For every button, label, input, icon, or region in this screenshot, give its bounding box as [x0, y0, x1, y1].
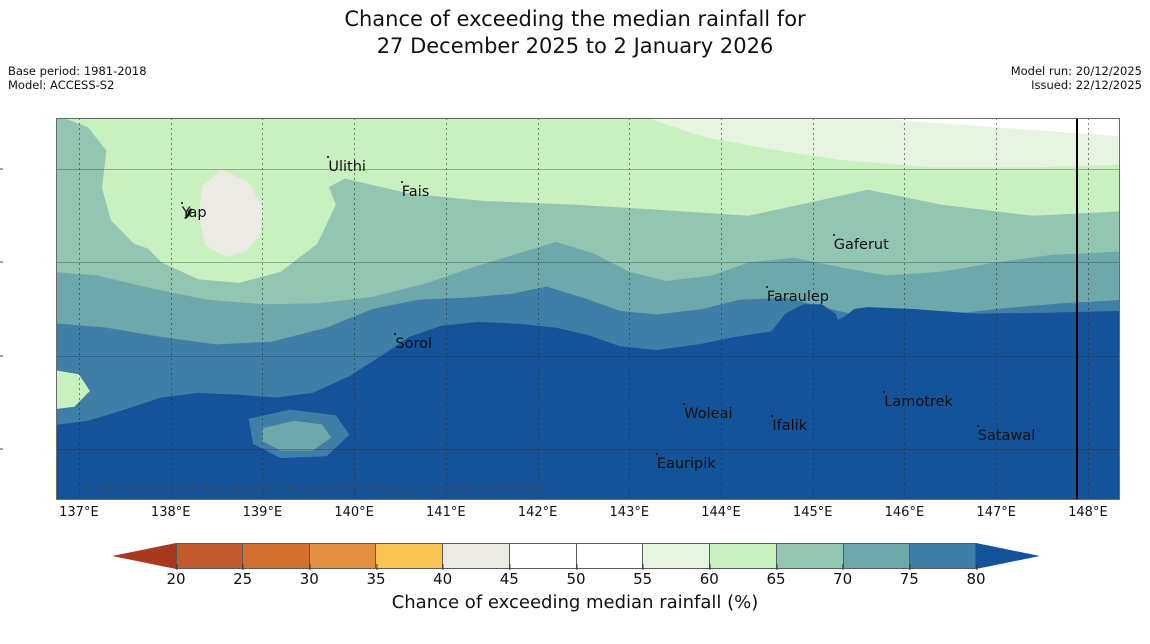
latitude-tick-mark: [0, 355, 3, 356]
colorbar-tick-mark: [643, 564, 644, 570]
rainfall-forecast-map-page: Chance of exceeding the median rainfall …: [0, 0, 1150, 644]
colorbar-tick-mark: [443, 564, 444, 570]
contour-bands: [56, 118, 1120, 500]
longitude-tick-label: 148°E: [1068, 505, 1108, 520]
longitude-tick-label: 141°E: [426, 505, 466, 520]
place-marker-dot: [766, 286, 768, 288]
model-text: Model: ACCESS-S2: [8, 78, 147, 92]
colorbar-segment: [176, 543, 243, 569]
longitude-tick-label: 144°E: [701, 505, 741, 520]
copyright-text: © Commonwealth of Australia 2025, Bureau…: [83, 482, 546, 495]
place-label-woleai: Woleai: [684, 407, 732, 421]
map-panel: YapUlithiFaisSorolGaferutFaraulepWoleaiI…: [56, 118, 1120, 500]
colorbar-high-extend-cap: [976, 543, 1040, 569]
graticule-meridian: [721, 118, 722, 500]
longitude-tick-label: 140°E: [334, 505, 374, 520]
latitude-tick-mark: [0, 262, 3, 263]
longitude-tick-label: 147°E: [976, 505, 1016, 520]
colorbar-tick-label: 75: [900, 570, 919, 588]
colorbar-segment: [910, 543, 976, 569]
boundary-line: [1076, 118, 1078, 500]
colorbar-tick-mark: [576, 564, 577, 570]
colorbar-tick-label: 25: [233, 570, 252, 588]
page-title: Chance of exceeding the median rainfall …: [0, 6, 1150, 60]
colorbar-tick-label: 80: [966, 570, 985, 588]
colorbar-tick-mark: [976, 564, 977, 570]
colorbar-segment: [243, 543, 310, 569]
colorbar-tick-label: 30: [300, 570, 319, 588]
longitude-tick-label: 146°E: [885, 505, 925, 520]
colorbar-tick-mark: [376, 564, 377, 570]
colorbar-tick-label: 50: [566, 570, 585, 588]
place-name-text: Woleai: [684, 406, 732, 422]
place-name-text: Sorol: [395, 336, 432, 352]
graticule-parallel: [56, 356, 1120, 357]
metadata-right: Model run: 20/12/2025 Issued: 22/12/2025: [1011, 64, 1142, 92]
place-label-faraulep: Faraulep: [767, 290, 829, 304]
place-label-fais: Fais: [402, 185, 429, 199]
colorbar-tick-label: 65: [766, 570, 785, 588]
colorbar-segment: [777, 543, 844, 569]
graticule-meridian: [813, 118, 814, 500]
latitude-tick-mark: [0, 448, 3, 449]
place-label-yap: Yap: [182, 206, 207, 220]
colorbar-tick-label: 20: [166, 570, 185, 588]
place-marker-dot: [401, 181, 403, 183]
longitude-tick-label: 145°E: [793, 505, 833, 520]
graticule-meridian: [446, 118, 447, 500]
place-marker-dot: [977, 425, 979, 427]
place-marker-dot: [656, 453, 658, 455]
place-name-text: Faraulep: [767, 289, 829, 305]
colorbar-tick-mark: [909, 564, 910, 570]
colorbar-tick-label: 70: [833, 570, 852, 588]
colorbar-tick-label: 60: [700, 570, 719, 588]
place-name-text: Fais: [402, 184, 429, 200]
graticule-parallel: [56, 169, 1120, 170]
island-marker-icon: [182, 206, 197, 221]
place-marker-dot: [181, 202, 183, 204]
title-line-1: Chance of exceeding the median rainfall …: [344, 7, 805, 31]
graticule-meridian: [904, 118, 905, 500]
colorbar: 20253035404550556065707580: [112, 543, 1040, 569]
graticule-meridian: [79, 118, 80, 500]
graticule-meridian: [171, 118, 172, 500]
place-label-ifalik: Ifalik: [772, 419, 807, 433]
place-label-gaferut: Gaferut: [834, 238, 889, 252]
place-name-text: Ifalik: [772, 418, 807, 434]
colorbar-tick-mark: [176, 564, 177, 570]
place-name-text: Lamotrek: [884, 394, 953, 410]
colorbar-tick-label: 35: [366, 570, 385, 588]
graticule-parallel: [56, 449, 1120, 450]
colorbar-segment: [643, 543, 710, 569]
colorbar-tick-mark: [776, 564, 777, 570]
longitude-tick-label: 143°E: [610, 505, 650, 520]
colorbar-segment: [844, 543, 911, 569]
longitude-tick-label: 139°E: [243, 505, 283, 520]
colorbar-tick-label: 55: [633, 570, 652, 588]
title-line-2: 27 December 2025 to 2 January 2026: [0, 33, 1150, 60]
graticule-meridian: [262, 118, 263, 500]
colorbar-segment: [710, 543, 777, 569]
contour-map: YapUlithiFaisSorolGaferutFaraulepWoleaiI…: [56, 118, 1120, 500]
graticule-parallel: [56, 262, 1120, 263]
colorbar-tick-mark: [509, 564, 510, 570]
place-name-text: Satawal: [978, 428, 1035, 444]
colorbar-tick-mark: [309, 564, 310, 570]
place-label-lamotrek: Lamotrek: [884, 395, 953, 409]
issued-text: Issued: 22/12/2025: [1011, 78, 1142, 92]
place-label-satawal: Satawal: [978, 429, 1035, 443]
colorbar-segment: [577, 543, 644, 569]
base-period-text: Base period: 1981-2018: [8, 64, 147, 78]
longitude-tick-label: 137°E: [59, 505, 99, 520]
colorbar-low-extend-cap: [112, 543, 176, 569]
place-marker-dot: [833, 234, 835, 236]
colorbar-segment: [443, 543, 510, 569]
place-name-text: Eauripik: [657, 456, 716, 472]
colorbar-segment: [310, 543, 377, 569]
graticule-meridian: [538, 118, 539, 500]
longitude-tick-label: 142°E: [518, 505, 558, 520]
colorbar-axis-label: Chance of exceeding median rainfall (%): [0, 592, 1150, 613]
place-label-sorol: Sorol: [395, 337, 432, 351]
latitude-tick-mark: [0, 169, 3, 170]
colorbar-tick-label: 45: [500, 570, 519, 588]
colorbar-tick-label: 40: [433, 570, 452, 588]
graticule-meridian: [629, 118, 630, 500]
colorbar-segment: [510, 543, 577, 569]
place-label-eauripik: Eauripik: [657, 457, 716, 471]
colorbar-tick-mark: [709, 564, 710, 570]
place-name-text: Gaferut: [834, 237, 889, 253]
place-name-text: Ulithi: [328, 159, 366, 175]
longitude-tick-label: 138°E: [151, 505, 191, 520]
colorbar-segment: [376, 543, 443, 569]
metadata-left: Base period: 1981-2018 Model: ACCESS-S2: [8, 64, 147, 92]
graticule-meridian: [1088, 118, 1089, 500]
model-run-text: Model run: 20/12/2025: [1011, 64, 1142, 78]
place-label-ulithi: Ulithi: [328, 160, 366, 174]
colorbar-tick-mark: [843, 564, 844, 570]
colorbar-tick-mark: [243, 564, 244, 570]
